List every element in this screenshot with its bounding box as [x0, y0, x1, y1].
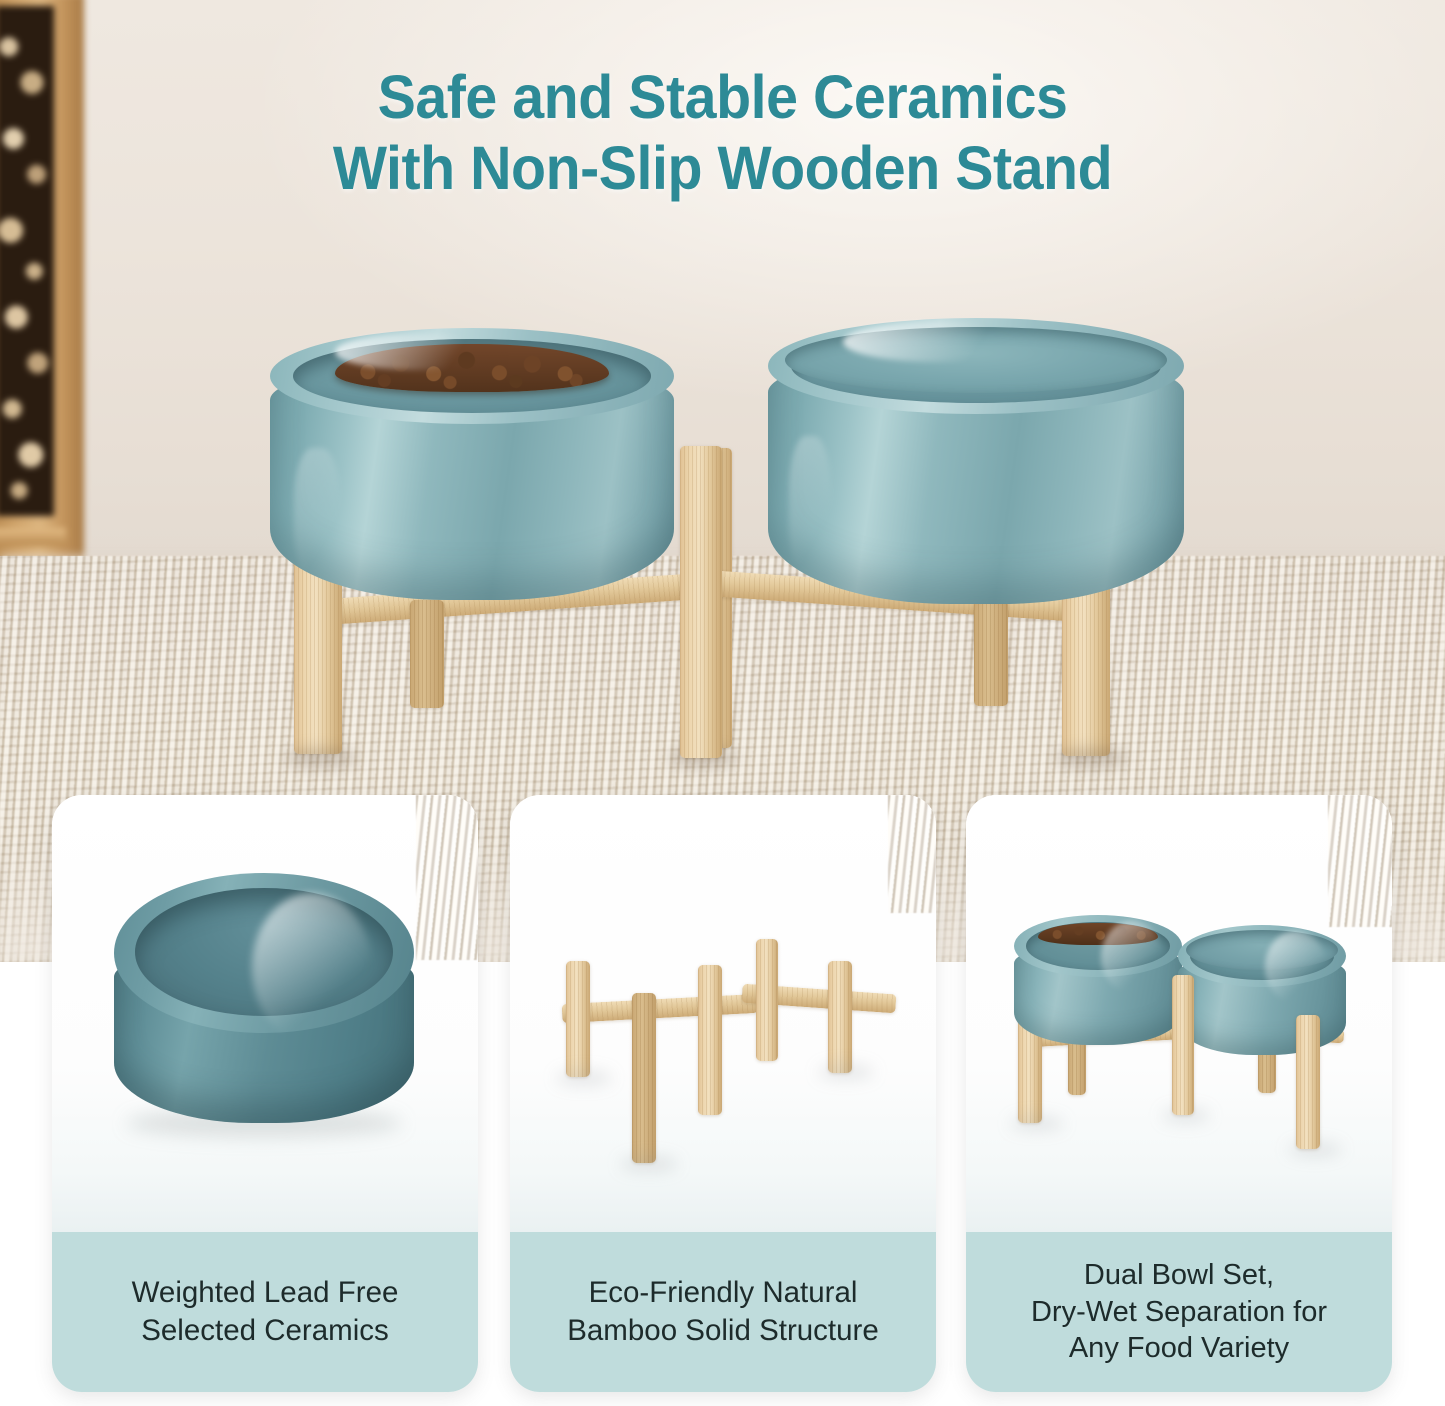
card-1-caption-text: Weighted Lead Free Selected Ceramics	[132, 1274, 399, 1351]
water-surface	[785, 327, 1168, 393]
set-water-bowl-gloss	[1265, 931, 1327, 1003]
detail-rail-left	[562, 994, 759, 1023]
card-3-photo	[966, 795, 1392, 1232]
bowl-glaze-highlight	[252, 893, 372, 1043]
detail-leg-front	[632, 993, 656, 1163]
hero-food-bowl	[270, 328, 674, 600]
card-2-photo	[510, 795, 936, 1232]
title-line-1: Safe and Stable Ceramics	[43, 62, 1401, 133]
hero-dual-bowl-product	[262, 318, 1192, 758]
set-food-bowl-gloss	[1101, 921, 1163, 993]
stand-leg-rear-right	[974, 600, 1008, 706]
set-leg-rear-left	[1068, 1037, 1086, 1095]
set-center-post	[1172, 975, 1194, 1115]
card-1-photo	[52, 795, 478, 1232]
set-shadow-left	[1010, 1117, 1064, 1130]
detail-stand-shadow-front	[620, 1157, 678, 1171]
card-1-rug-strip	[416, 795, 478, 960]
card-2-caption: Eco-Friendly Natural Bamboo Solid Struct…	[510, 1232, 936, 1392]
kibble-pile	[335, 344, 610, 392]
card-2-caption-text: Eco-Friendly Natural Bamboo Solid Struct…	[567, 1274, 879, 1351]
detail-stand-shadow-right	[818, 1065, 874, 1079]
card-1-caption: Weighted Lead Free Selected Ceramics	[52, 1232, 478, 1392]
stand-center-post-front	[680, 446, 722, 758]
detail-leg-far-left	[566, 961, 590, 1077]
bamboo-stand-detail	[546, 915, 902, 1165]
feature-card-bamboo[interactable]: Eco-Friendly Natural Bamboo Solid Struct…	[510, 795, 936, 1392]
stand-leg-rear-left	[410, 600, 444, 708]
frame-base-rail	[0, 528, 66, 546]
single-ceramic-bowl	[114, 873, 414, 1123]
detail-stand-shadow-left	[556, 1071, 612, 1085]
hero-water-bowl	[768, 318, 1184, 604]
stand-shadow-left	[284, 748, 358, 768]
detail-inner-post-right	[756, 939, 778, 1061]
feature-card-ceramics[interactable]: Weighted Lead Free Selected Ceramics	[52, 795, 478, 1392]
card-2-rug-strip	[888, 795, 936, 913]
detail-inner-post-left	[698, 965, 722, 1115]
set-water-bowl	[1178, 925, 1346, 1055]
stand-shadow-right	[1054, 748, 1128, 768]
title-line-2: With Non-Slip Wooden Stand	[43, 133, 1401, 204]
feature-card-dual-set[interactable]: Dual Bowl Set, Dry-Wet Separation for An…	[966, 795, 1392, 1392]
dual-bowl-set-detail	[1006, 897, 1356, 1177]
set-leg-right	[1296, 1015, 1320, 1149]
card-3-caption-text: Dual Bowl Set, Dry-Wet Separation for An…	[1031, 1257, 1327, 1367]
feature-cards-row: Weighted Lead Free Selected Ceramics	[0, 795, 1445, 1406]
page-title: Safe and Stable Ceramics With Non-Slip W…	[43, 62, 1401, 204]
set-food-bowl	[1014, 915, 1182, 1045]
detail-leg-far-right	[828, 961, 852, 1073]
card-3-caption: Dual Bowl Set, Dry-Wet Separation for An…	[966, 1232, 1392, 1392]
